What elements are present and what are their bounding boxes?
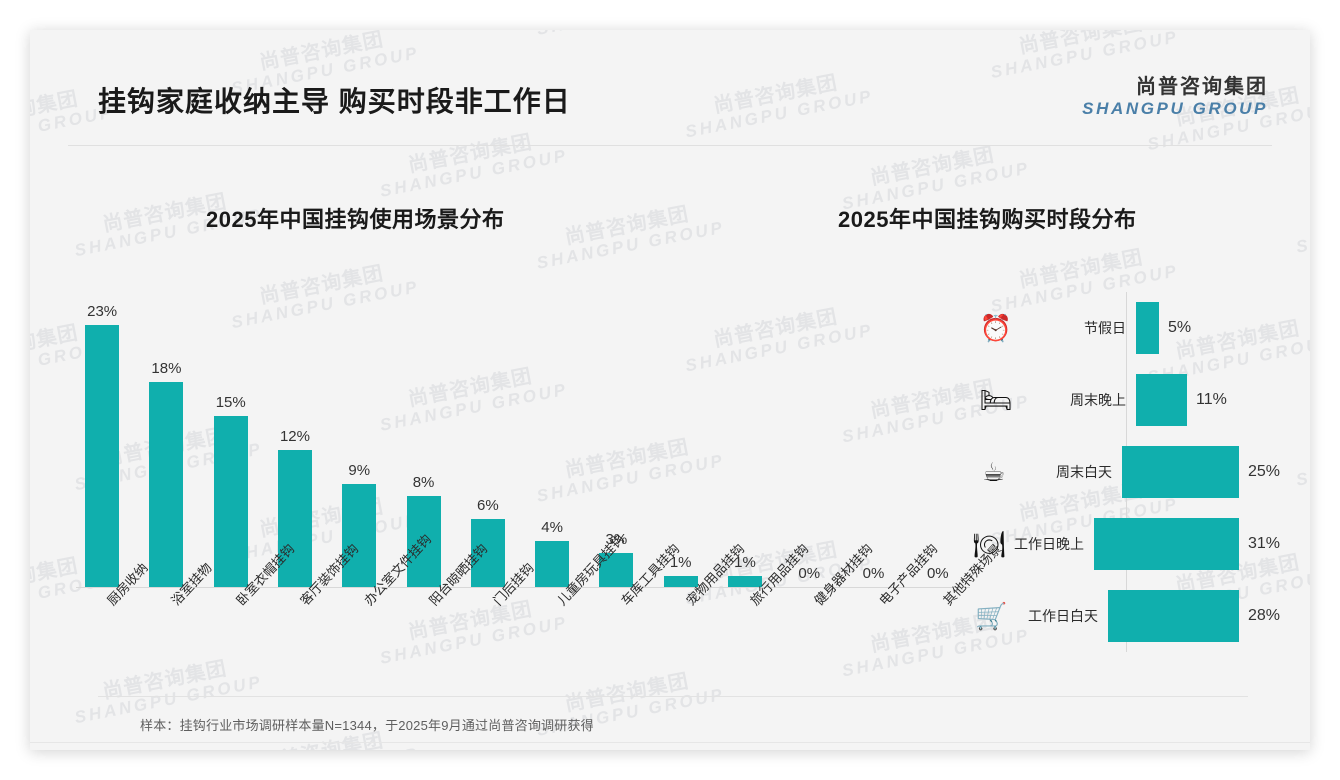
column-series: 23%18%15%12%9%8%6%4%3%1%1%0%0%0% bbox=[70, 288, 970, 587]
x-label-cell: 车库工具挂钩 bbox=[584, 592, 648, 682]
column-item[interactable]: 0% bbox=[906, 288, 970, 587]
bar-item[interactable]: ☕周末白天25% bbox=[970, 446, 1280, 498]
shopping-cart-icon: 🛒 bbox=[970, 603, 1013, 629]
x-label-cell: 宠物用品挂钩 bbox=[649, 592, 713, 682]
column-item[interactable]: 23% bbox=[70, 288, 134, 587]
column-value-label: 6% bbox=[477, 497, 499, 514]
bar-item[interactable]: ⏰节假日5% bbox=[970, 302, 1280, 354]
column-value-label: 0% bbox=[863, 565, 885, 582]
purchase-time-bar-chart: ⏰节假日5%🛏周末晚上11%☕周末白天25%🍽工作日晚上31%🛒工作日白天28% bbox=[970, 292, 1280, 652]
slide-content: 挂钩家庭收纳主导 购买时段非工作日 尚普咨询集团 SHANGPU GROUP 2… bbox=[30, 30, 1310, 750]
dinner-plate-icon: 🍽 bbox=[970, 531, 1008, 557]
bar-value-label: 5% bbox=[1168, 319, 1191, 337]
page-title: 挂钩家庭收纳主导 购买时段非工作日 bbox=[98, 80, 571, 120]
column-item[interactable]: 9% bbox=[327, 288, 391, 587]
x-label-cell: 阳台晾晒挂钩 bbox=[391, 592, 455, 682]
column-chart-x-labels: 厨房收纳浴室挂物卧室衣帽挂钩客厅装饰挂钩办公室文件挂钩阳台晾晒挂钩门后挂钩儿童房… bbox=[70, 592, 970, 682]
bar-category-label: 周末白天 bbox=[1017, 462, 1122, 482]
x-label-cell: 健身器材挂钩 bbox=[777, 592, 841, 682]
column-bar[interactable] bbox=[535, 541, 569, 587]
column-item[interactable]: 15% bbox=[199, 288, 263, 587]
column-item[interactable]: 1% bbox=[649, 288, 713, 587]
column-value-label: 0% bbox=[798, 565, 820, 582]
column-bar[interactable] bbox=[214, 416, 248, 587]
column-item[interactable]: 12% bbox=[263, 288, 327, 587]
bar-track: 11% bbox=[1136, 374, 1280, 426]
x-label-cell: 其他特殊场景 bbox=[906, 592, 970, 682]
bar-track: 31% bbox=[1094, 518, 1280, 570]
x-label-cell: 厨房收纳 bbox=[70, 592, 134, 682]
x-label-cell: 旅行用品挂钩 bbox=[713, 592, 777, 682]
bar-category-label: 工作日晚上 bbox=[1008, 534, 1094, 554]
bar[interactable] bbox=[1136, 302, 1159, 354]
bar-item[interactable]: 🛒工作日白天28% bbox=[970, 590, 1280, 642]
left-chart-title: 2025年中国挂钩使用场景分布 bbox=[206, 202, 504, 234]
bar-category-label: 工作日白天 bbox=[1013, 606, 1108, 626]
website-link[interactable]: www.shangpu-china.com bbox=[1099, 749, 1238, 750]
bar[interactable] bbox=[1094, 518, 1239, 570]
column-bar[interactable] bbox=[342, 484, 376, 587]
column-value-label: 15% bbox=[216, 394, 246, 411]
column-value-label: 12% bbox=[280, 428, 310, 445]
bar-track: 5% bbox=[1136, 302, 1280, 354]
coffee-cup-icon: ☕ bbox=[970, 459, 1017, 485]
bar-category-label: 节假日 bbox=[1022, 318, 1136, 338]
column-value-label: 0% bbox=[927, 565, 949, 582]
column-item[interactable]: 4% bbox=[520, 288, 584, 587]
header-divider bbox=[68, 145, 1272, 146]
x-label-cell: 浴室挂物 bbox=[134, 592, 198, 682]
footer-divider bbox=[30, 742, 1310, 743]
slide-header: 挂钩家庭收纳主导 购买时段非工作日 尚普咨询集团 SHANGPU GROUP bbox=[30, 30, 1310, 122]
column-bar[interactable] bbox=[149, 382, 183, 587]
bar-value-label: 11% bbox=[1196, 391, 1227, 409]
bar-item[interactable]: 🍽工作日晚上31% bbox=[970, 518, 1280, 570]
right-chart-title: 2025年中国挂钩购买时段分布 bbox=[838, 202, 1136, 234]
bar-value-label: 25% bbox=[1248, 463, 1280, 481]
x-label-cell: 客厅装饰挂钩 bbox=[263, 592, 327, 682]
x-label-cell: 办公室文件挂钩 bbox=[327, 592, 391, 682]
alarm-clock-icon: ⏰ bbox=[970, 315, 1022, 341]
bar[interactable] bbox=[1122, 446, 1239, 498]
bar-category-label: 周末晚上 bbox=[1022, 390, 1136, 410]
usage-scenario-column-chart: 23%18%15%12%9%8%6%4%3%1%1%0%0%0% bbox=[70, 288, 970, 588]
column-value-label: 9% bbox=[348, 462, 370, 479]
sample-note: 样本：挂钩行业市场调研样本量N=1344，于2025年9月通过尚普咨询调研获得 bbox=[140, 715, 594, 734]
brand-logo-cn: 尚普咨询集团 bbox=[1082, 76, 1268, 99]
column-value-label: 23% bbox=[87, 303, 117, 320]
column-value-label: 4% bbox=[541, 519, 563, 536]
brand-logo-en: SHANGPU GROUP bbox=[1082, 99, 1268, 119]
column-value-label: 18% bbox=[151, 360, 181, 377]
slide: 尚普咨询集团SHANGPU GROUP尚普咨询集团SHANGPU GROUP尚普… bbox=[30, 30, 1310, 750]
x-label-cell: 门后挂钩 bbox=[456, 592, 520, 682]
column-item[interactable]: 0% bbox=[777, 288, 841, 587]
column-value-label: 8% bbox=[413, 474, 435, 491]
x-label-cell: 电子产品挂钩 bbox=[841, 592, 905, 682]
bar-value-label: 28% bbox=[1248, 607, 1280, 625]
bar-track: 28% bbox=[1108, 590, 1280, 642]
column-item[interactable]: 6% bbox=[456, 288, 520, 587]
bar-item[interactable]: 🛏周末晚上11% bbox=[970, 374, 1280, 426]
bar[interactable] bbox=[1136, 374, 1187, 426]
column-item[interactable]: 1% bbox=[713, 288, 777, 587]
x-label-cell: 卧室衣帽挂钩 bbox=[199, 592, 263, 682]
bar-value-label: 31% bbox=[1248, 535, 1280, 553]
column-item[interactable]: 0% bbox=[841, 288, 905, 587]
column-bar[interactable] bbox=[85, 325, 119, 587]
note-divider bbox=[98, 696, 1248, 697]
bar[interactable] bbox=[1108, 590, 1239, 642]
column-item[interactable]: 18% bbox=[134, 288, 198, 587]
x-label-cell: 儿童房玩具挂钩 bbox=[520, 592, 584, 682]
bed-icon: 🛏 bbox=[970, 387, 1022, 413]
copyright-text: ©2025.11 SHANGPU GROUP bbox=[106, 749, 274, 750]
brand-logo: 尚普咨询集团 SHANGPU GROUP bbox=[1082, 76, 1268, 119]
bar-track: 25% bbox=[1122, 446, 1280, 498]
